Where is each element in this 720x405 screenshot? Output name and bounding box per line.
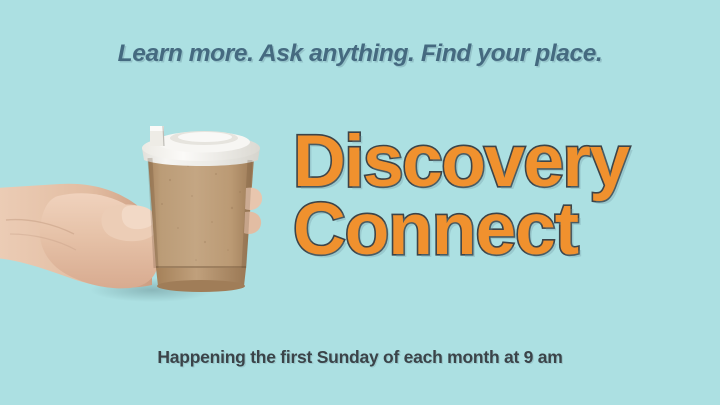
title-block: Discovery Connect	[293, 128, 693, 264]
cup-body	[148, 158, 254, 268]
cup-lid-center	[178, 132, 232, 142]
hand-holding-coffee-cup-photo	[0, 100, 300, 310]
promo-poster: Learn more. Ask anything. Find your plac…	[0, 0, 720, 405]
cup-lid-tab-highlight	[150, 126, 164, 131]
schedule-text: Happening the first Sunday of each month…	[0, 347, 720, 368]
title-line-connect: Connect	[293, 196, 693, 264]
cup-bottom-ellipse	[157, 280, 245, 292]
title-line-discovery: Discovery	[293, 128, 693, 196]
tagline: Learn more. Ask anything. Find your plac…	[0, 40, 720, 68]
